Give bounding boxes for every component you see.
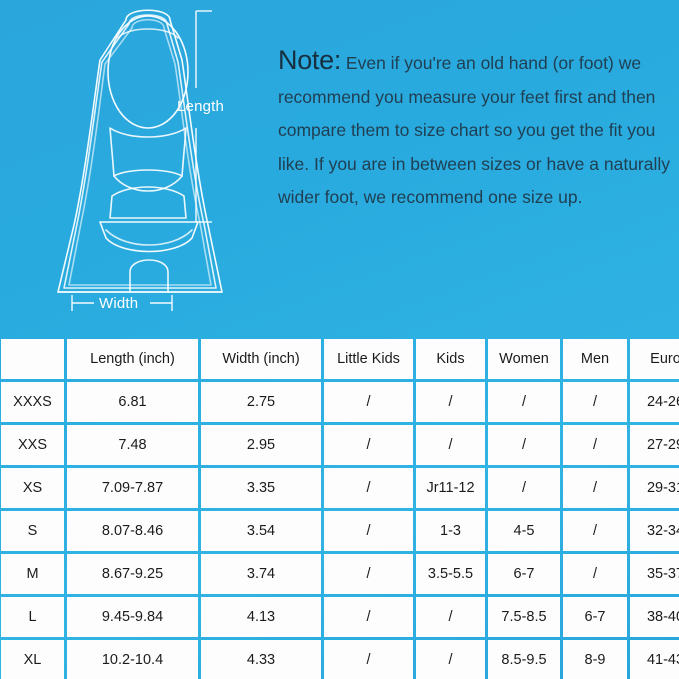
length-dimension-label: Length [177,98,224,115]
cell-men: / [563,554,627,594]
cell-length: 8.67-9.25 [67,554,198,594]
table-row: M 8.67-9.25 3.74 / 3.5-5.5 6-7 / 35-37 [1,554,679,594]
cell-euro: 24-26 [630,382,679,422]
cell-size: S [1,511,64,551]
table-row: XXS 7.48 2.95 / / / / 27-29 [1,425,679,465]
table-row: XL 10.2-10.4 4.33 / / 8.5-9.5 8-9 41-43 [1,640,679,679]
note-paragraph: Note: Even if you're an old hand (or foo… [278,44,670,215]
cell-women: / [488,468,560,508]
size-chart-page: Length Width Note: Even if you're an old… [0,0,679,679]
table-header-cell-euro: Euro [630,339,679,379]
cell-men: / [563,468,627,508]
cell-kids: / [416,382,485,422]
cell-kids: Jr11-12 [416,468,485,508]
cell-kids: 1-3 [416,511,485,551]
cell-women: 4-5 [488,511,560,551]
cell-length: 7.09-7.87 [67,468,198,508]
cell-width: 3.54 [201,511,321,551]
cell-euro: 29-31 [630,468,679,508]
cell-women: / [488,382,560,422]
cell-men: / [563,382,627,422]
cell-euro: 27-29 [630,425,679,465]
table-header-cell-little-kids: Little Kids [324,339,413,379]
note-block: Note: Even if you're an old hand (or foo… [278,44,670,215]
cell-men: 6-7 [563,597,627,637]
cell-little-kids: / [324,597,413,637]
table-row: XXXS 6.81 2.75 / / / / 24-26 [1,382,679,422]
cell-width: 3.74 [201,554,321,594]
width-dimension-label: Width [99,295,138,312]
cell-length: 6.81 [67,382,198,422]
table-header-cell-kids: Kids [416,339,485,379]
cell-kids: / [416,597,485,637]
cell-little-kids: / [324,425,413,465]
cell-women: 7.5-8.5 [488,597,560,637]
cell-width: 3.35 [201,468,321,508]
size-chart-table-wrapper: Length (inch) Width (inch) Little Kids K… [0,336,679,679]
cell-width: 2.75 [201,382,321,422]
note-body: Even if you're an old hand (or foot) we … [278,53,670,207]
cell-euro: 41-43 [630,640,679,679]
cell-women: 8.5-9.5 [488,640,560,679]
cell-size: XS [1,468,64,508]
cell-men: 8-9 [563,640,627,679]
cell-length: 10.2-10.4 [67,640,198,679]
table-row: XS 7.09-7.87 3.35 / Jr11-12 / / 29-31 [1,468,679,508]
cell-length: 8.07-8.46 [67,511,198,551]
cell-little-kids: / [324,554,413,594]
cell-little-kids: / [324,468,413,508]
cell-size: M [1,554,64,594]
table-header-row: Length (inch) Width (inch) Little Kids K… [1,339,679,379]
cell-euro: 38-40 [630,597,679,637]
cell-women: / [488,425,560,465]
cell-kids: / [416,425,485,465]
cell-size: XXXS [1,382,64,422]
fin-diagram-panel: Length Width Note: Even if you're an old… [0,0,679,336]
table-header-cell-length: Length (inch) [67,339,198,379]
cell-width: 2.95 [201,425,321,465]
cell-length: 7.48 [67,425,198,465]
cell-kids: 3.5-5.5 [416,554,485,594]
cell-little-kids: / [324,382,413,422]
cell-euro: 32-34 [630,511,679,551]
note-heading: Note: [278,45,341,75]
table-header-cell-width: Width (inch) [201,339,321,379]
cell-euro: 35-37 [630,554,679,594]
length-dimension-line [196,11,212,222]
table-row: L 9.45-9.84 4.13 / / 7.5-8.5 6-7 38-40 [1,597,679,637]
table-header-cell-women: Women [488,339,560,379]
swim-fin-outline-icon [30,0,280,330]
cell-length: 9.45-9.84 [67,597,198,637]
cell-width: 4.13 [201,597,321,637]
cell-little-kids: / [324,640,413,679]
cell-size: XL [1,640,64,679]
table-header-cell-men: Men [563,339,627,379]
cell-men: / [563,511,627,551]
cell-size: XXS [1,425,64,465]
cell-width: 4.33 [201,640,321,679]
cell-women: 6-7 [488,554,560,594]
cell-size: L [1,597,64,637]
table-header-cell-size [1,339,64,379]
size-chart-table: Length (inch) Width (inch) Little Kids K… [0,336,679,679]
cell-men: / [563,425,627,465]
table-row: S 8.07-8.46 3.54 / 1-3 4-5 / 32-34 [1,511,679,551]
cell-kids: / [416,640,485,679]
cell-little-kids: / [324,511,413,551]
